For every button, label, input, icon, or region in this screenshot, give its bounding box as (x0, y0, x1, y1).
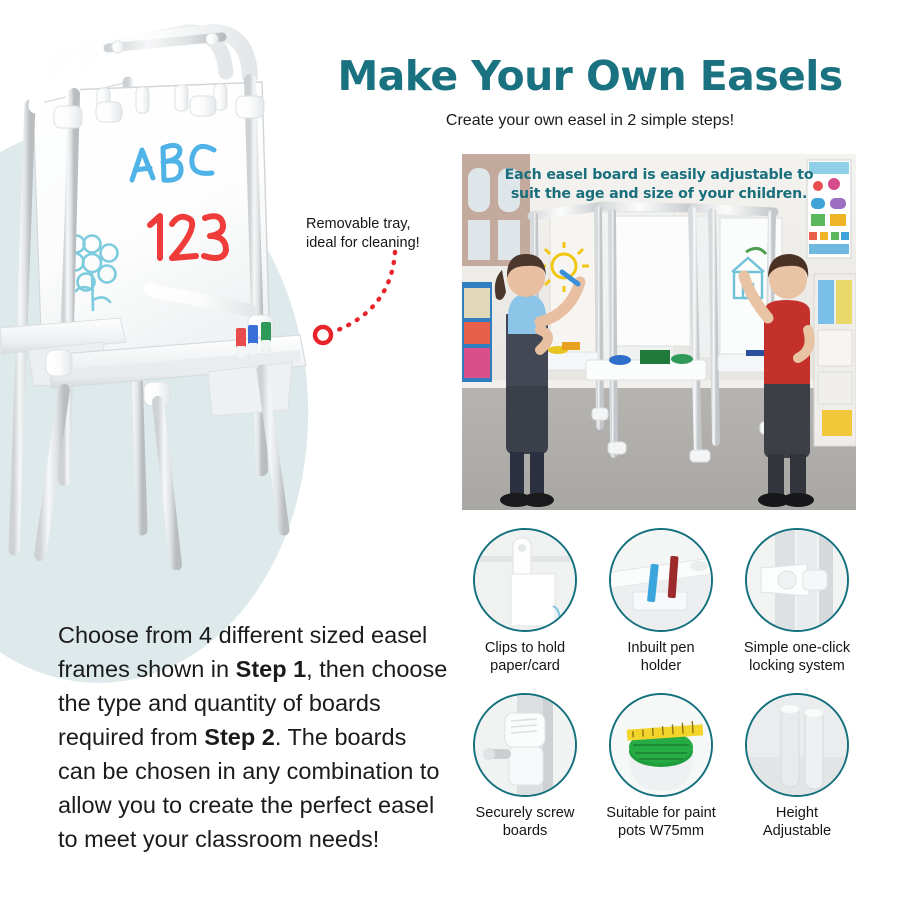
locking-clamp-icon (745, 528, 849, 632)
feature-height: Height Adjustable (734, 693, 860, 840)
paint-pot-measure-icon (609, 693, 713, 797)
feature-locking-label-2: locking system (734, 657, 860, 675)
feature-clips-label-1: Clips to hold (462, 639, 588, 657)
paper-clip-icon (473, 528, 577, 632)
page-subtitle: Create your own easel in 2 simple steps! (300, 112, 880, 130)
feature-pots-label-2: pots W75mm (598, 822, 724, 840)
poster-page: Make Your Own Easels Create your own eas… (0, 0, 900, 900)
feature-clips: Clips to hold paper/card (462, 528, 588, 675)
feature-height-label-2: Adjustable (734, 822, 860, 840)
photo-caption: Each easel board is easily adjustable to… (462, 166, 856, 204)
feature-locking-label-1: Simple one-click (734, 639, 860, 657)
body-paragraph: Choose from 4 different sized easel fram… (58, 618, 450, 856)
red-dotted-arrow-icon (295, 248, 405, 353)
photo-caption-line-1: Each easel board is easily adjustable to (462, 166, 856, 185)
pen-holder-icon (609, 528, 713, 632)
step-2-emphasis: Step 2 (204, 724, 275, 750)
screw-knob-icon (473, 693, 577, 797)
feature-screw-label: Securely screw boards (462, 804, 588, 840)
step-1-emphasis: Step 1 (236, 656, 307, 682)
feature-locking-label: Simple one-click locking system (734, 639, 860, 675)
adjustable-legs-icon (745, 693, 849, 797)
photo-caption-line-2: suit the age and size of your children. (462, 185, 856, 204)
feature-pots-label-1: Suitable for paint (598, 804, 724, 822)
feature-pen-holder-label: Inbuilt pen holder (598, 639, 724, 675)
classroom-shelf (814, 274, 856, 446)
feature-pen-holder: Inbuilt pen holder (598, 528, 724, 675)
feature-clips-label-2: paper/card (462, 657, 588, 675)
feature-pen-label-1: Inbuilt pen (598, 639, 724, 657)
feature-screw-label-1: Securely screw (462, 804, 588, 822)
feature-row-2: Securely screw boards (462, 693, 860, 840)
page-title: Make Your Own Easels (300, 52, 880, 100)
feature-paint-pots: Suitable for paint pots W75mm (598, 693, 724, 840)
feature-clips-label: Clips to hold paper/card (462, 639, 588, 675)
feature-locking: Simple one-click locking system (734, 528, 860, 675)
feature-pen-label-2: holder (598, 657, 724, 675)
callout-line-1: Removable tray, (306, 215, 456, 234)
feature-height-label-1: Height (734, 804, 860, 822)
feature-paint-pots-label: Suitable for paint pots W75mm (598, 804, 724, 840)
classroom-easel-photo: Each easel board is easily adjustable to… (462, 154, 856, 510)
feature-highlights: Clips to hold paper/card (462, 528, 860, 868)
feature-height-label: Height Adjustable (734, 804, 860, 840)
feature-row-1: Clips to hold paper/card (462, 528, 860, 675)
feature-screw-label-2: boards (462, 822, 588, 840)
feature-screw: Securely screw boards (462, 693, 588, 840)
